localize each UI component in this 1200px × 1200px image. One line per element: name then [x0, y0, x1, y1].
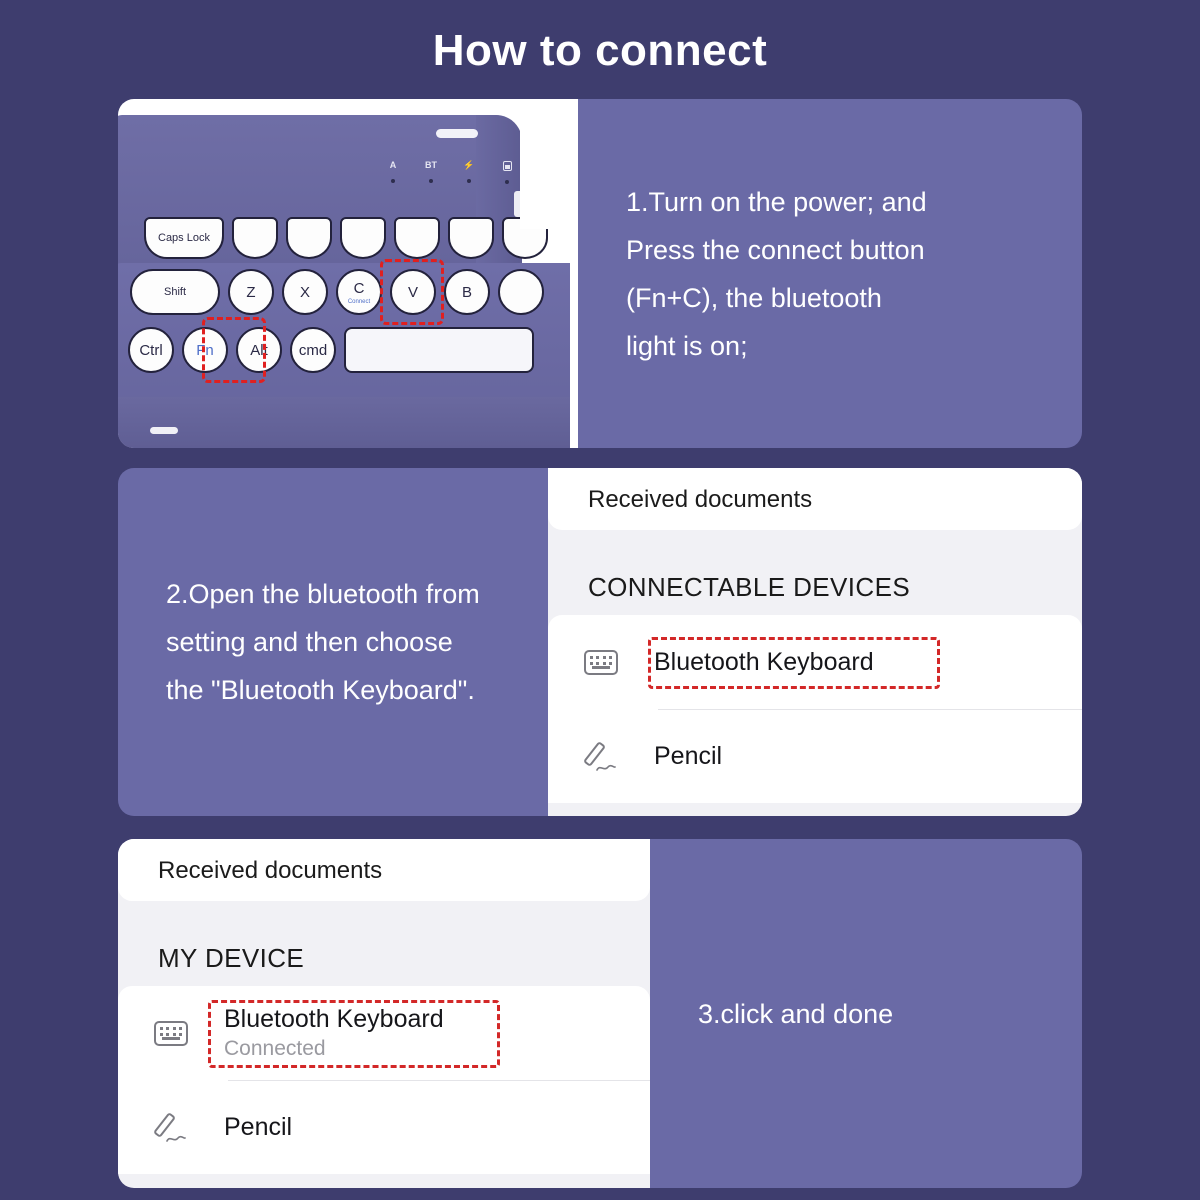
- device-name-bluetooth-keyboard-connected: Bluetooth Keyboard: [224, 1005, 444, 1034]
- keyboard-icon: [154, 1021, 224, 1046]
- settings-panel-connectable: Received documents CONNECTABLE DEVICES B…: [548, 468, 1082, 816]
- keyboard-photo: A BT ⚡: [118, 99, 578, 448]
- key-c-sublabel: Connect: [348, 299, 370, 305]
- key-shift[interactable]: Shift: [130, 269, 220, 315]
- device-row-bluetooth-keyboard-connected[interactable]: Bluetooth Keyboard Connected: [118, 986, 650, 1080]
- key-b-label: B: [462, 284, 472, 301]
- battery-indicator: [500, 161, 514, 184]
- step-1-line-1: 1.Turn on the power; and: [626, 178, 1034, 226]
- highlight-key-fn: [202, 317, 266, 383]
- step-1-text-panel: 1.Turn on the power; and Press the conne…: [578, 99, 1082, 448]
- device-row-bluetooth-keyboard[interactable]: Bluetooth Keyboard: [548, 615, 1082, 709]
- bluetooth-indicator: BT: [424, 161, 438, 184]
- key-c-connect[interactable]: C Connect: [336, 269, 382, 315]
- keyboard-row-modifiers: Ctrl Fn Alt cmd: [128, 327, 534, 373]
- key-z[interactable]: Z: [228, 269, 274, 315]
- device-list-mydevice: Bluetooth Keyboard Connected: [118, 986, 650, 1174]
- settings-header-mydevice: Received documents: [118, 839, 650, 901]
- caps-indicator-dot: [391, 179, 395, 183]
- device-list-connectable: Bluetooth Keyboard Pencil: [548, 615, 1082, 803]
- step-1-line-4: light is on;: [626, 322, 1034, 370]
- pencil-icon: [584, 739, 654, 773]
- device-row-pencil[interactable]: Pencil: [548, 709, 1082, 803]
- step-2-line-3: the "Bluetooth Keyboard".: [166, 666, 500, 714]
- key-n[interactable]: [498, 269, 544, 315]
- device-name-bluetooth-keyboard: Bluetooth Keyboard: [654, 648, 874, 677]
- key-capslock[interactable]: Caps Lock: [144, 217, 224, 259]
- device-text-bluetooth-keyboard: Bluetooth Keyboard: [654, 648, 874, 677]
- key-shift-label: Shift: [164, 286, 186, 298]
- pencil-squiggle-icon: [596, 763, 616, 772]
- infographic-root: How to connect A BT ⚡: [0, 0, 1200, 1200]
- device-name-pencil-mydevice: Pencil: [224, 1113, 292, 1142]
- keyboard-row-capslock: Caps Lock: [144, 217, 548, 259]
- key-x[interactable]: X: [282, 269, 328, 315]
- step-3-card: Received documents MY DEVICE Bluetooth K…: [118, 839, 1082, 1188]
- step-1-card: A BT ⚡: [118, 99, 1082, 448]
- caps-indicator: A: [386, 161, 400, 184]
- keyboard-row-shift: Shift Z X C Connect V B: [130, 269, 544, 315]
- key-ctrl[interactable]: Ctrl: [128, 327, 174, 373]
- step-1-line-3: (Fn+C), the bluetooth: [626, 274, 1034, 322]
- photo-white-mask-edge: [570, 99, 578, 448]
- key-blank-3[interactable]: [340, 217, 386, 259]
- bluetooth-indicator-dot: [429, 179, 433, 183]
- case-hinge: [436, 129, 478, 138]
- received-documents-title-mydevice: Received documents: [158, 857, 650, 885]
- step-3-text-panel: 3.click and done: [650, 839, 1082, 1188]
- step-2-text-panel: 2.Open the bluetooth from setting and th…: [118, 468, 548, 816]
- section-label-connectable-devices: CONNECTABLE DEVICES: [548, 530, 1082, 615]
- settings-header: Received documents: [548, 468, 1082, 530]
- step-2-line-2: setting and then choose: [166, 618, 500, 666]
- key-cmd[interactable]: cmd: [290, 327, 336, 373]
- status-badge-connected: Connected: [224, 1037, 444, 1061]
- received-documents-title: Received documents: [588, 486, 1082, 514]
- key-c-label: C: [354, 280, 365, 297]
- device-row-pencil-mydevice[interactable]: Pencil: [118, 1080, 650, 1174]
- step-3-line-1: 3.click and done: [698, 990, 1034, 1038]
- step-1-line-2: Press the connect button: [626, 226, 1034, 274]
- section-label-my-device: MY DEVICE: [118, 901, 650, 986]
- key-ctrl-label: Ctrl: [139, 342, 162, 359]
- key-blank-1[interactable]: [232, 217, 278, 259]
- highlight-key-c: [380, 259, 444, 325]
- keyboard-icon: [584, 650, 654, 675]
- key-capslock-label: Caps Lock: [158, 232, 210, 244]
- bluetooth-indicator-glyph: BT: [425, 161, 437, 170]
- page-title: How to connect: [0, 26, 1200, 76]
- pencil-squiggle-icon: [166, 1134, 186, 1143]
- caps-indicator-glyph: A: [390, 161, 397, 170]
- device-text-pencil-mydevice: Pencil: [224, 1113, 292, 1142]
- device-text-pencil: Pencil: [654, 742, 722, 771]
- key-blank-5[interactable]: [448, 217, 494, 259]
- pencil-icon: [154, 1110, 224, 1144]
- key-x-label: X: [300, 284, 310, 301]
- device-text-bluetooth-keyboard-connected: Bluetooth Keyboard Connected: [224, 1005, 444, 1061]
- charging-indicator-glyph: ⚡: [463, 161, 474, 170]
- key-blank-2[interactable]: [286, 217, 332, 259]
- keyboard-deck-edge: [118, 397, 578, 448]
- device-name-pencil: Pencil: [654, 742, 722, 771]
- key-cmd-label: cmd: [299, 342, 327, 359]
- key-z-label: Z: [246, 284, 255, 301]
- battery-icon: [503, 161, 512, 171]
- battery-indicator-dot: [505, 180, 509, 184]
- key-blank-4[interactable]: [394, 217, 440, 259]
- settings-panel-mydevice: Received documents MY DEVICE Bluetooth K…: [118, 839, 650, 1188]
- step-2-card: 2.Open the bluetooth from setting and th…: [118, 468, 1082, 816]
- indicator-lights: A BT ⚡: [386, 161, 514, 184]
- step-2-line-1: 2.Open the bluetooth from: [166, 570, 500, 618]
- key-b[interactable]: B: [444, 269, 490, 315]
- key-spacebar[interactable]: [344, 327, 534, 373]
- charging-indicator-dot: [467, 179, 471, 183]
- charging-indicator: ⚡: [462, 161, 476, 184]
- keyboard-foot: [150, 427, 178, 434]
